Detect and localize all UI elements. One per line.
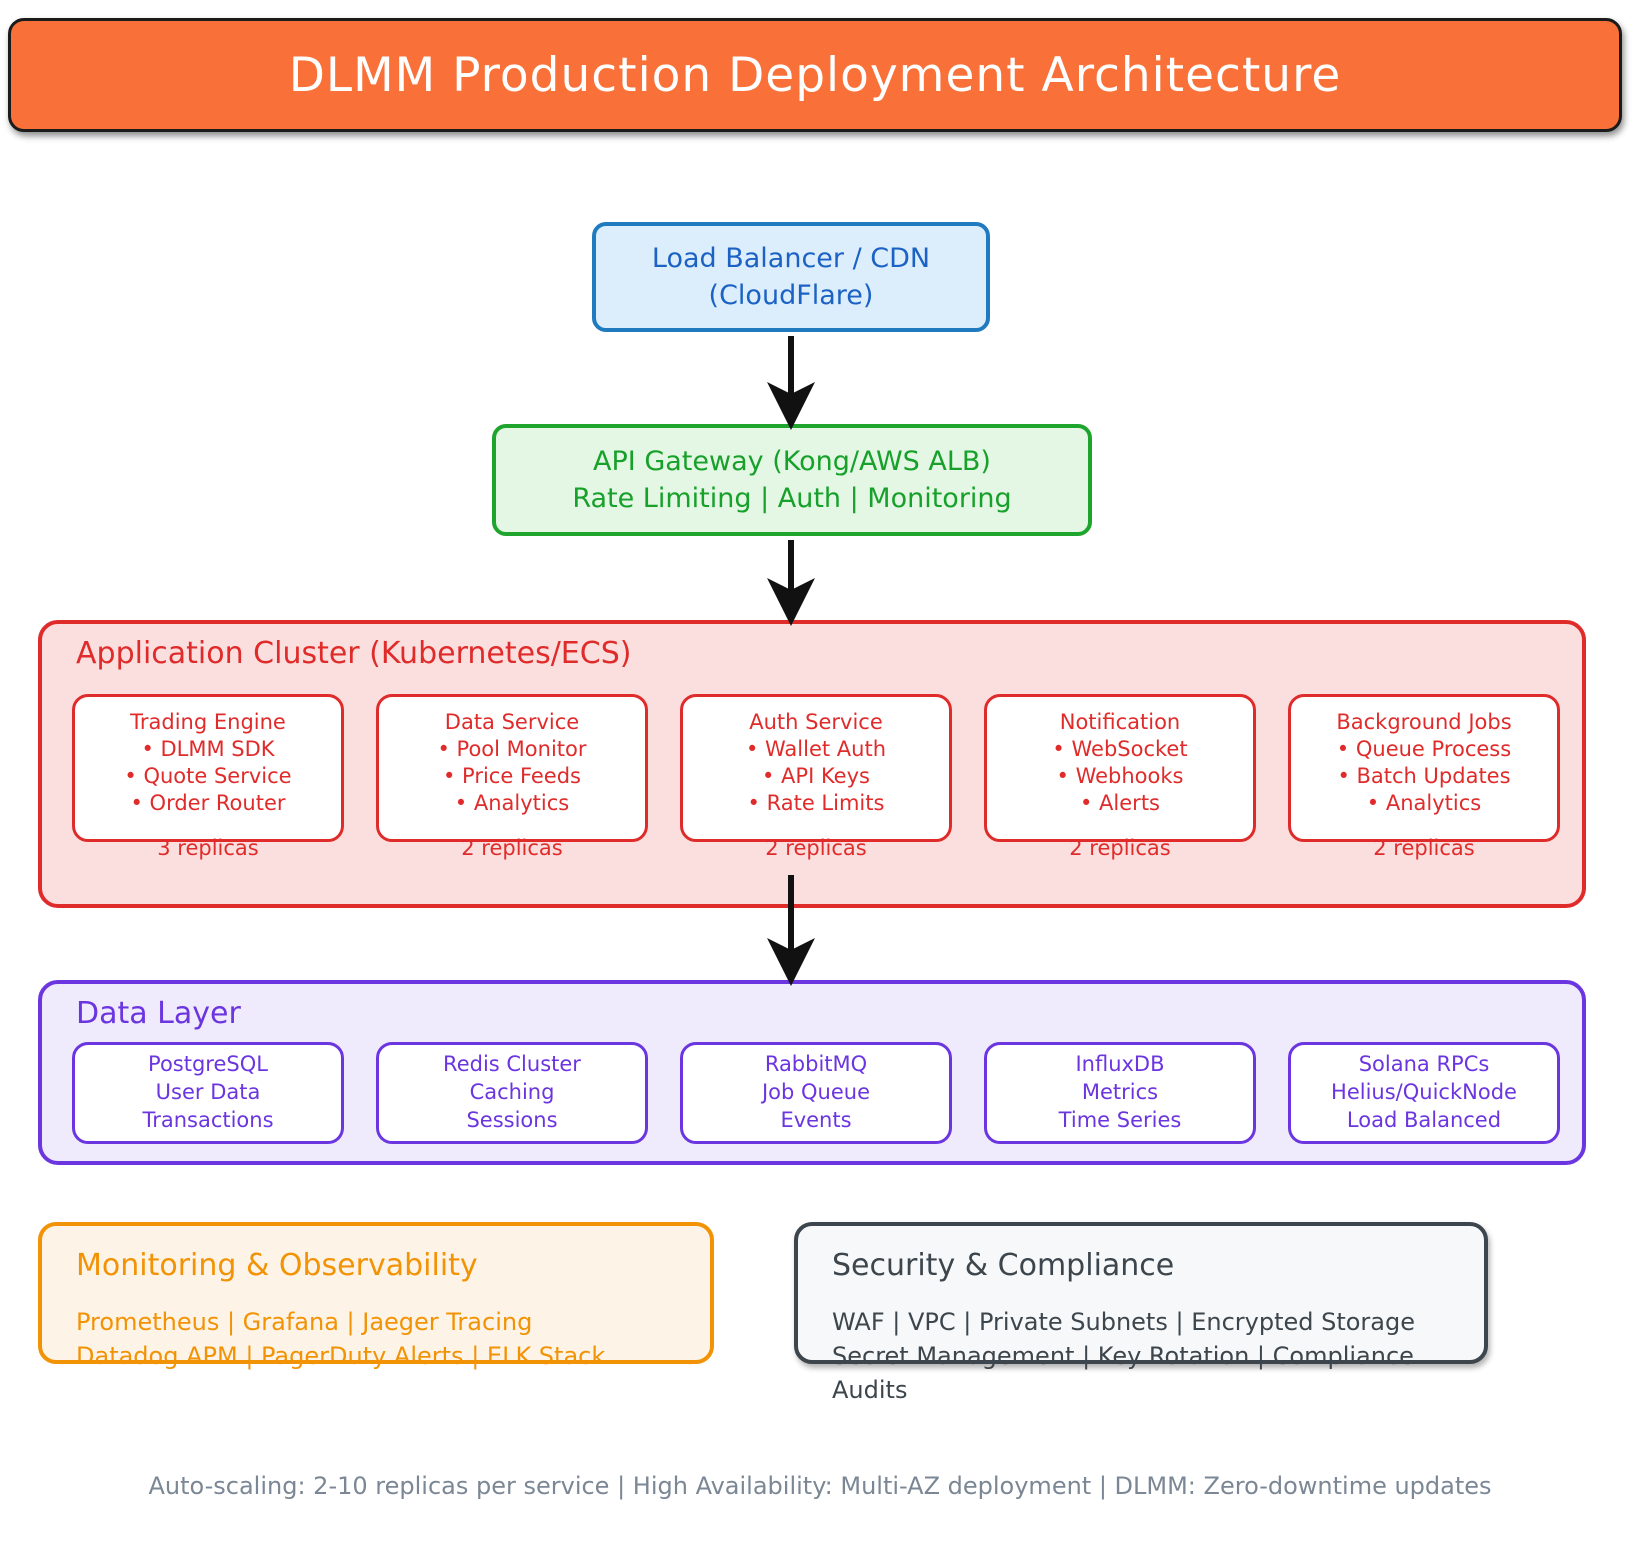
service-item: • Analytics bbox=[1367, 790, 1481, 817]
node-api-gateway[interactable]: API Gateway (Kong/AWS ALB) Rate Limiting… bbox=[492, 424, 1092, 536]
datastore-name: Redis Cluster bbox=[443, 1051, 581, 1079]
application-service-row: Trading Engine • DLMM SDK • Quote Servic… bbox=[72, 694, 1560, 842]
service-background-jobs[interactable]: Background Jobs • Queue Process • Batch … bbox=[1288, 694, 1560, 842]
service-item: • Quote Service bbox=[124, 763, 291, 790]
load-balancer-line1: Load Balancer / CDN bbox=[652, 240, 930, 277]
service-item: • Alerts bbox=[1080, 790, 1160, 817]
security-line-1: WAF | VPC | Private Subnets | Encrypted … bbox=[832, 1305, 1454, 1339]
monitoring-title: Monitoring & Observability bbox=[76, 1248, 680, 1283]
datastore-detail: Job Queue bbox=[762, 1079, 870, 1107]
service-name: Notification bbox=[1060, 709, 1181, 736]
application-cluster-title: Application Cluster (Kubernetes/ECS) bbox=[76, 636, 631, 671]
datastore-detail: Transactions bbox=[142, 1107, 273, 1135]
service-item: • DLMM SDK bbox=[141, 736, 274, 763]
diagram-canvas: DLMM Production Deployment Architecture … bbox=[0, 0, 1640, 1550]
datastore-detail: Metrics bbox=[1082, 1079, 1158, 1107]
data-layer-group: Data Layer PostgreSQL User Data Transact… bbox=[38, 980, 1586, 1165]
service-name: Data Service bbox=[445, 709, 579, 736]
service-name: Trading Engine bbox=[130, 709, 286, 736]
datastore-name: Solana RPCs bbox=[1359, 1051, 1490, 1079]
datastore-detail: Sessions bbox=[466, 1107, 557, 1135]
service-replicas: 2 replicas bbox=[987, 835, 1253, 862]
service-item: • Order Router bbox=[130, 790, 285, 817]
security-panel: Security & Compliance WAF | VPC | Privat… bbox=[794, 1222, 1488, 1364]
service-data-service[interactable]: Data Service • Pool Monitor • Price Feed… bbox=[376, 694, 648, 842]
security-title: Security & Compliance bbox=[832, 1248, 1454, 1283]
datastore-detail: Caching bbox=[470, 1079, 555, 1107]
service-item: • WebSocket bbox=[1052, 736, 1187, 763]
service-item: • Batch Updates bbox=[1337, 763, 1510, 790]
service-name: Background Jobs bbox=[1336, 709, 1511, 736]
monitoring-panel: Monitoring & Observability Prometheus | … bbox=[38, 1222, 714, 1364]
service-replicas: 2 replicas bbox=[683, 835, 949, 862]
service-item: • API Keys bbox=[762, 763, 870, 790]
datastore-name: InfluxDB bbox=[1075, 1051, 1164, 1079]
data-layer-row: PostgreSQL User Data Transactions Redis … bbox=[72, 1042, 1560, 1144]
monitoring-line-2: Datadog APM | PagerDuty Alerts | ELK Sta… bbox=[76, 1339, 680, 1373]
service-item: • Rate Limits bbox=[748, 790, 885, 817]
security-line-2: Secret Management | Key Rotation | Compl… bbox=[832, 1339, 1454, 1407]
page-title: DLMM Production Deployment Architecture bbox=[289, 48, 1342, 103]
datastore-postgresql[interactable]: PostgreSQL User Data Transactions bbox=[72, 1042, 344, 1144]
data-layer-title: Data Layer bbox=[76, 996, 241, 1031]
datastore-detail: Time Series bbox=[1059, 1107, 1182, 1135]
service-replicas: 3 replicas bbox=[75, 835, 341, 862]
datastore-influxdb[interactable]: InfluxDB Metrics Time Series bbox=[984, 1042, 1256, 1144]
datastore-name: PostgreSQL bbox=[148, 1051, 268, 1079]
datastore-detail: User Data bbox=[156, 1079, 261, 1107]
service-auth-service[interactable]: Auth Service • Wallet Auth • API Keys • … bbox=[680, 694, 952, 842]
datastore-solana-rpcs[interactable]: Solana RPCs Helius/QuickNode Load Balanc… bbox=[1288, 1042, 1560, 1144]
node-load-balancer[interactable]: Load Balancer / CDN (CloudFlare) bbox=[592, 222, 990, 332]
api-gateway-line2: Rate Limiting | Auth | Monitoring bbox=[572, 480, 1011, 517]
datastore-rabbitmq[interactable]: RabbitMQ Job Queue Events bbox=[680, 1042, 952, 1144]
service-replicas: 2 replicas bbox=[379, 835, 645, 862]
load-balancer-line2: (CloudFlare) bbox=[709, 277, 874, 314]
footer-note: Auto-scaling: 2-10 replicas per service … bbox=[0, 1472, 1640, 1500]
application-cluster-group: Application Cluster (Kubernetes/ECS) Tra… bbox=[38, 620, 1586, 908]
service-item: • Pool Monitor bbox=[437, 736, 586, 763]
datastore-detail: Load Balanced bbox=[1347, 1107, 1501, 1135]
datastore-detail: Events bbox=[780, 1107, 851, 1135]
service-replicas: 2 replicas bbox=[1291, 835, 1557, 862]
monitoring-line-1: Prometheus | Grafana | Jaeger Tracing bbox=[76, 1305, 680, 1339]
service-name: Auth Service bbox=[749, 709, 883, 736]
service-item: • Webhooks bbox=[1057, 763, 1184, 790]
api-gateway-line1: API Gateway (Kong/AWS ALB) bbox=[593, 443, 991, 480]
service-item: • Analytics bbox=[455, 790, 569, 817]
datastore-redis-cluster[interactable]: Redis Cluster Caching Sessions bbox=[376, 1042, 648, 1144]
service-item: • Price Feeds bbox=[443, 763, 581, 790]
service-item: • Wallet Auth bbox=[746, 736, 886, 763]
service-trading-engine[interactable]: Trading Engine • DLMM SDK • Quote Servic… bbox=[72, 694, 344, 842]
datastore-detail: Helius/QuickNode bbox=[1331, 1079, 1517, 1107]
service-notification[interactable]: Notification • WebSocket • Webhooks • Al… bbox=[984, 694, 1256, 842]
diagram-title-bar: DLMM Production Deployment Architecture bbox=[8, 18, 1622, 132]
service-item: • Queue Process bbox=[1337, 736, 1511, 763]
datastore-name: RabbitMQ bbox=[765, 1051, 867, 1079]
